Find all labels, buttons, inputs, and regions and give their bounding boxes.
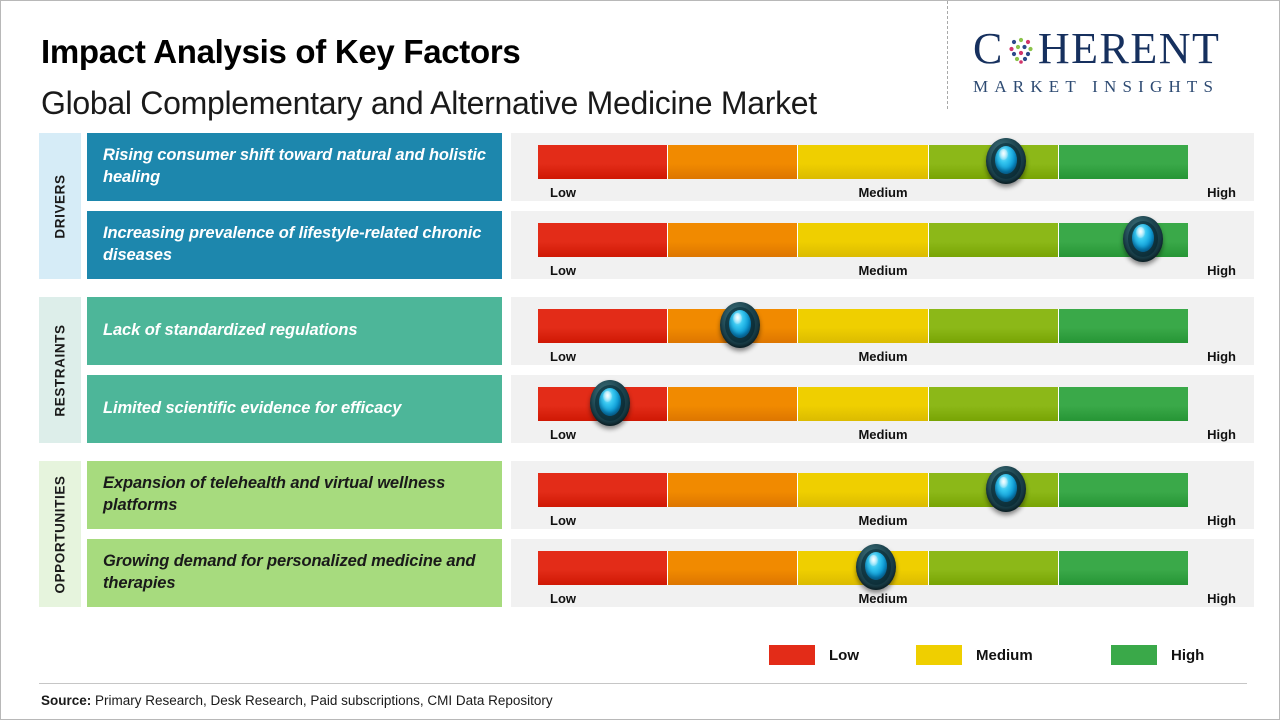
infographic-page: Impact Analysis of Key Factors Global Co… <box>0 0 1280 720</box>
scale-label-high: High <box>1207 185 1236 200</box>
gauge-bar <box>538 387 1188 421</box>
scale-label-high: High <box>1207 591 1236 606</box>
impact-marker[interactable] <box>853 541 899 593</box>
category-label-restraints: RESTRAINTS <box>39 297 81 443</box>
impact-marker[interactable] <box>983 463 1029 515</box>
source-label: Source: <box>41 693 91 708</box>
impact-marker[interactable] <box>587 377 633 429</box>
impact-gauge: LowMediumHigh <box>511 375 1254 443</box>
gauge-segment-4 <box>929 309 1059 343</box>
gauge-segment-2 <box>668 551 798 585</box>
scale-label-low: Low <box>550 427 576 442</box>
gauge-scale: LowMediumHigh <box>538 591 1228 611</box>
legend-label: Low <box>829 647 859 664</box>
marker-highlight <box>869 555 878 566</box>
marker-highlight <box>733 313 742 324</box>
gauge-bar <box>538 145 1188 179</box>
footer-divider <box>39 683 1247 684</box>
source-text: Primary Research, Desk Research, Paid su… <box>91 693 552 708</box>
scale-label-medium: Medium <box>858 349 907 364</box>
impact-grid: DRIVERSRESTRAINTSOPPORTUNITIESRising con… <box>1 133 1280 623</box>
legend-item: High <box>1111 645 1204 665</box>
gauge-segment-2 <box>668 145 798 179</box>
gauge-segment-1 <box>538 145 668 179</box>
header: Impact Analysis of Key Factors Global Co… <box>1 1 1280 131</box>
impact-gauge: LowMediumHigh <box>511 133 1254 201</box>
gauge-scale: LowMediumHigh <box>538 513 1228 533</box>
factor-text: Lack of standardized regulations <box>103 320 357 342</box>
gauge-segment-2 <box>668 473 798 507</box>
factor-box: Lack of standardized regulations <box>87 297 502 365</box>
scale-label-low: Low <box>550 349 576 364</box>
gauge-segment-5 <box>1059 387 1188 421</box>
coherent-market-insights-logo: CHERENT MARKET INSIGHTS <box>973 27 1265 99</box>
impact-marker[interactable] <box>717 299 763 351</box>
gauge-segment-3 <box>798 473 928 507</box>
legend-swatch <box>916 645 962 665</box>
gauge-scale: LowMediumHigh <box>538 185 1228 205</box>
scale-label-medium: Medium <box>858 591 907 606</box>
impact-marker[interactable] <box>1120 213 1166 265</box>
gauge-scale: LowMediumHigh <box>538 263 1228 283</box>
gauge-segment-1 <box>538 473 668 507</box>
gauge-segment-4 <box>929 387 1059 421</box>
gauge-segment-5 <box>1059 145 1188 179</box>
gauge-segment-3 <box>798 309 928 343</box>
logo-letters-rest: HERENT <box>1038 24 1221 73</box>
gauge-segment-5 <box>1059 551 1188 585</box>
marker-highlight <box>999 149 1008 160</box>
impact-marker[interactable] <box>983 135 1029 187</box>
scale-label-high: High <box>1207 349 1236 364</box>
category-label-text: DRIVERS <box>53 174 68 238</box>
scale-label-medium: Medium <box>858 513 907 528</box>
factor-text: Growing demand for personalized medicine… <box>103 551 502 595</box>
gauge-segment-1 <box>538 309 668 343</box>
legend-swatch <box>1111 645 1157 665</box>
legend: LowMediumHigh <box>1 633 1280 673</box>
logo-wordmark: CHERENT <box>973 27 1265 71</box>
scale-label-medium: Medium <box>858 185 907 200</box>
scale-label-high: High <box>1207 427 1236 442</box>
gauge-scale: LowMediumHigh <box>538 349 1228 369</box>
logo-letter-c: C <box>973 24 1004 73</box>
gauge-bar <box>538 473 1188 507</box>
category-label-opportunities: OPPORTUNITIES <box>39 461 81 607</box>
factor-box: Increasing prevalence of lifestyle-relat… <box>87 211 502 279</box>
factor-box: Limited scientific evidence for efficacy <box>87 375 502 443</box>
gauge-segment-3 <box>798 145 928 179</box>
gauge-segment-3 <box>798 387 928 421</box>
gauge-segment-1 <box>538 551 668 585</box>
scale-label-high: High <box>1207 513 1236 528</box>
impact-gauge: LowMediumHigh <box>511 297 1254 365</box>
gauge-segment-2 <box>668 387 798 421</box>
source-line: Source: Primary Research, Desk Research,… <box>41 693 553 708</box>
impact-gauge: LowMediumHigh <box>511 211 1254 279</box>
impact-gauge: LowMediumHigh <box>511 539 1254 607</box>
gauge-segment-5 <box>1059 473 1188 507</box>
category-label-drivers: DRIVERS <box>39 133 81 279</box>
factor-text: Increasing prevalence of lifestyle-relat… <box>103 223 502 267</box>
gauge-segment-4 <box>929 551 1059 585</box>
marker-highlight <box>999 477 1008 488</box>
factor-text: Rising consumer shift toward natural and… <box>103 145 502 189</box>
gauge-scale: LowMediumHigh <box>538 427 1228 447</box>
impact-gauge: LowMediumHigh <box>511 461 1254 529</box>
gauge-segment-5 <box>1059 309 1188 343</box>
legend-label: Medium <box>976 647 1033 664</box>
scale-label-high: High <box>1207 263 1236 278</box>
gauge-segment-4 <box>929 223 1059 257</box>
logo-divider <box>947 1 948 109</box>
page-title: Impact Analysis of Key Factors <box>41 33 520 71</box>
scale-label-low: Low <box>550 513 576 528</box>
gauge-segment-3 <box>798 223 928 257</box>
factor-box: Growing demand for personalized medicine… <box>87 539 502 607</box>
legend-item: Medium <box>916 645 1033 665</box>
category-label-text: RESTRAINTS <box>53 324 68 416</box>
gauge-bar <box>538 309 1188 343</box>
scale-label-low: Low <box>550 263 576 278</box>
marker-highlight <box>1136 227 1145 238</box>
scale-label-medium: Medium <box>858 263 907 278</box>
gauge-segment-1 <box>538 223 668 257</box>
scale-label-low: Low <box>550 185 576 200</box>
factor-text: Limited scientific evidence for efficacy <box>103 398 401 420</box>
legend-label: High <box>1171 647 1204 664</box>
gauge-bar <box>538 223 1188 257</box>
scale-label-medium: Medium <box>858 427 907 442</box>
marker-highlight <box>603 391 612 402</box>
category-label-text: OPPORTUNITIES <box>53 475 68 593</box>
globe-icon <box>1004 30 1038 64</box>
logo-tagline: MARKET INSIGHTS <box>973 77 1265 97</box>
scale-label-low: Low <box>550 591 576 606</box>
factor-box: Rising consumer shift toward natural and… <box>87 133 502 201</box>
factor-text: Expansion of telehealth and virtual well… <box>103 473 502 517</box>
legend-swatch <box>769 645 815 665</box>
gauge-segment-2 <box>668 223 798 257</box>
page-subtitle: Global Complementary and Alternative Med… <box>41 85 817 122</box>
legend-item: Low <box>769 645 859 665</box>
factor-box: Expansion of telehealth and virtual well… <box>87 461 502 529</box>
